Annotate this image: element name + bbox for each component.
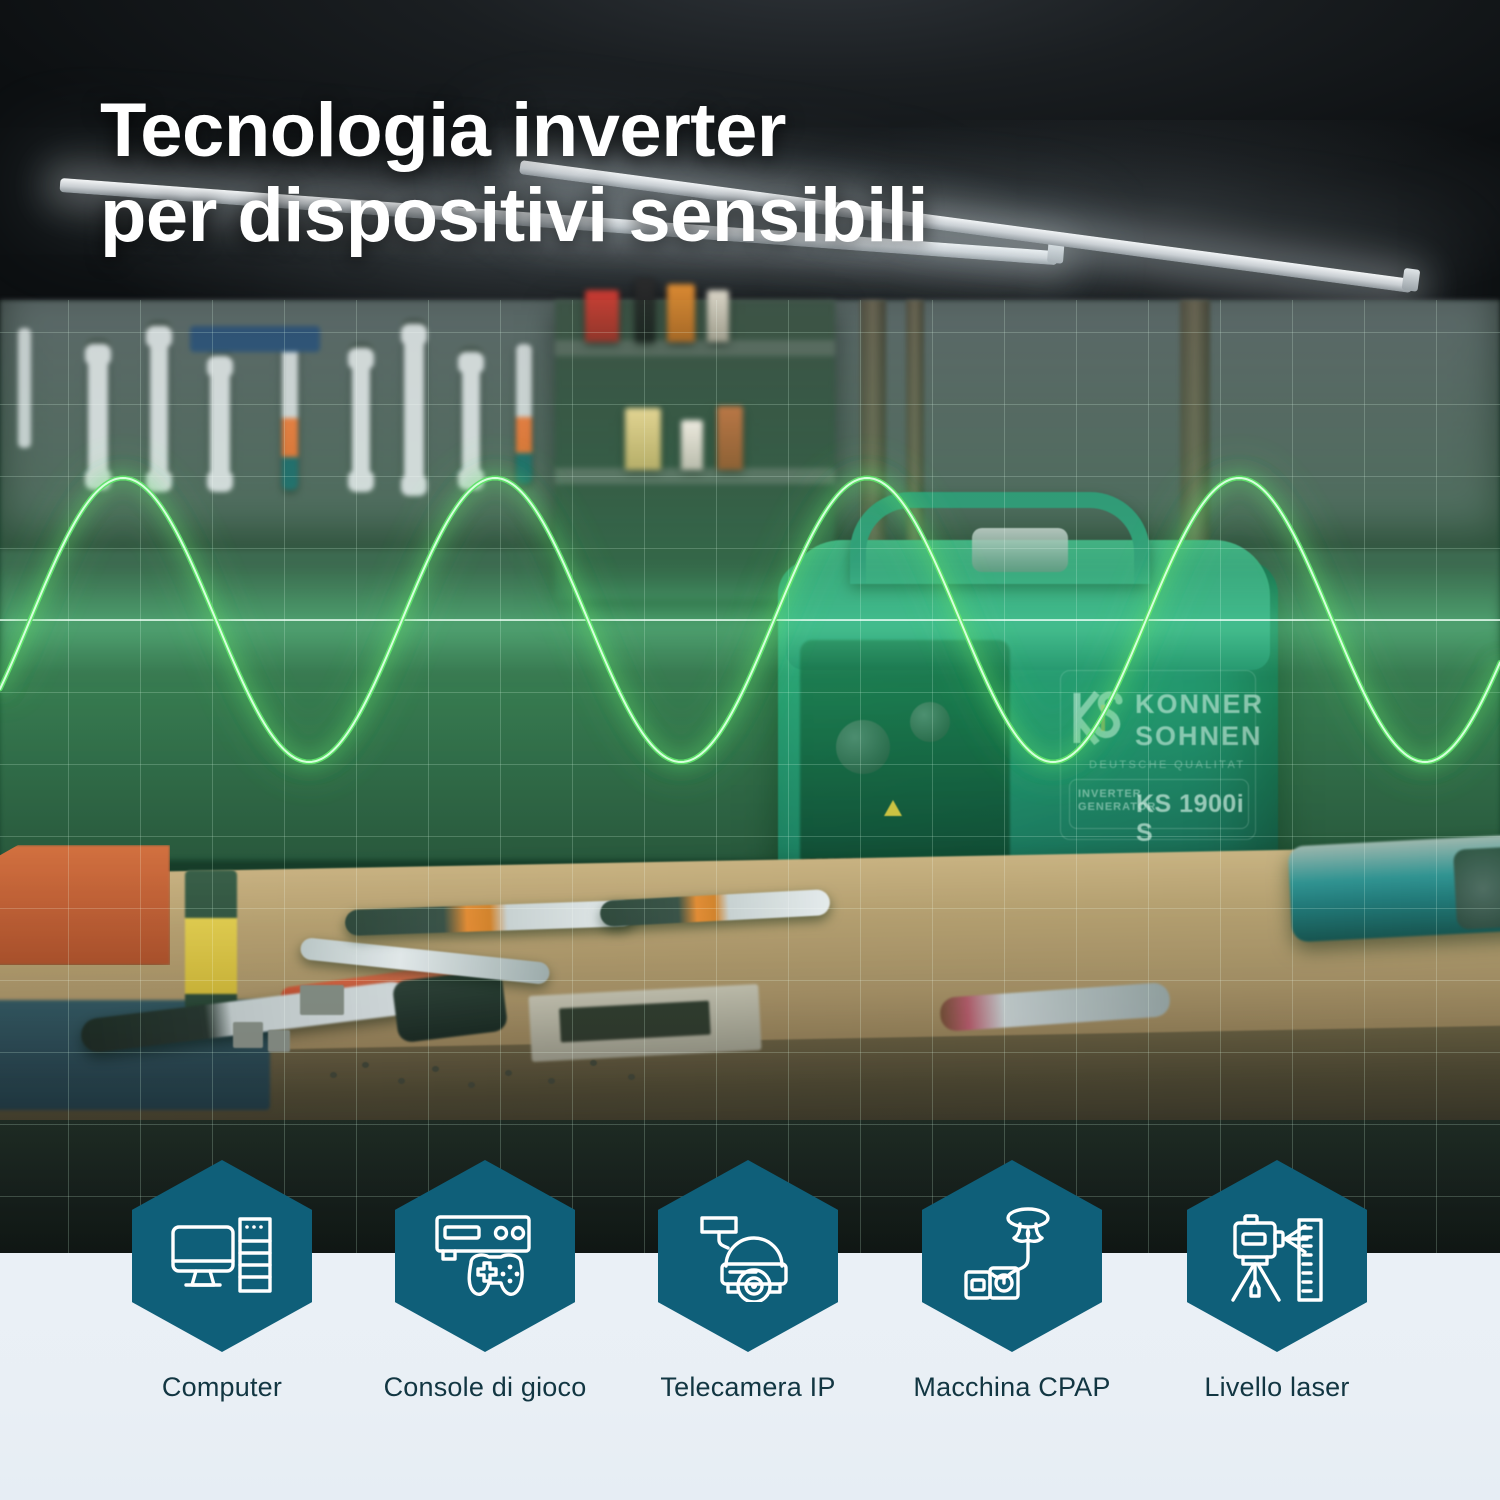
pliers [516, 344, 532, 484]
fuel-cap [972, 528, 1068, 572]
desktop-computer-icon [132, 1160, 312, 1352]
brand-name-line2: SOHNEN [1135, 721, 1263, 752]
headline-line-1: Tecnologia inverter [100, 88, 786, 173]
list-item-label: Livello laser [1145, 1372, 1409, 1403]
nut [233, 1022, 263, 1048]
list-item-label: Macchina CPAP [880, 1372, 1144, 1403]
wrench [462, 360, 480, 482]
brand-plate: KONNER SOHNEN DEUTSCHE QUALITAT INVERTER… [1060, 670, 1256, 840]
blue-tool [190, 326, 320, 352]
game-console-icon [395, 1160, 575, 1352]
device-list: Computer Console di gioco [0, 1160, 1500, 1500]
list-item-game-console[interactable]: Console di gioco [353, 1160, 617, 1500]
tool-hook [18, 328, 31, 448]
brand-tagline: DEUTSCHE QUALITAT [1089, 759, 1246, 771]
model-number: KS 1900i S [1136, 790, 1248, 848]
list-item-ip-camera[interactable]: Telecamera IP [616, 1160, 880, 1500]
headline-line-2: per dispositivi sensibili [100, 173, 1200, 258]
ks-logo-icon [1071, 687, 1127, 749]
drill-chuck [1453, 846, 1500, 930]
knob [836, 720, 890, 774]
wrench [210, 364, 230, 484]
pliers [282, 340, 298, 490]
marketing-banner: KONNER SOHNEN DEUTSCHE QUALITAT INVERTER… [0, 0, 1500, 1500]
zero-axis-line [0, 619, 1500, 621]
warning-triangle-icon [884, 800, 902, 816]
brand-name-line1: KONNER [1135, 689, 1264, 720]
list-item-label: Telecamera IP [616, 1372, 880, 1403]
wrench [88, 352, 108, 482]
list-item-cpap-machine[interactable]: Macchina CPAP [880, 1160, 1144, 1500]
socket [300, 985, 344, 1015]
wrench [404, 332, 424, 488]
nut [268, 1030, 290, 1052]
control-panel [800, 640, 1010, 870]
model-badge: INVERTER GENERATOR KS 1900i S [1069, 779, 1249, 829]
list-item-label: Console di gioco [353, 1372, 617, 1403]
red-toolbox [0, 845, 170, 965]
laser-level-icon [1187, 1160, 1367, 1352]
list-item-label: Computer [90, 1372, 354, 1403]
list-item-computer[interactable]: Computer [90, 1160, 354, 1500]
ip-camera-icon [658, 1160, 838, 1352]
wrench [352, 356, 370, 484]
product-type-line1: INVERTER [1078, 788, 1142, 800]
sanding-pad [528, 984, 761, 1062]
cpap-machine-icon [922, 1160, 1102, 1352]
wrench [150, 334, 168, 484]
page-title: Tecnologia inverter per dispositivi sens… [100, 88, 1200, 258]
list-item-laser-level[interactable]: Livello laser [1145, 1160, 1409, 1500]
oil-bottle [185, 870, 237, 1010]
knob [910, 702, 950, 742]
